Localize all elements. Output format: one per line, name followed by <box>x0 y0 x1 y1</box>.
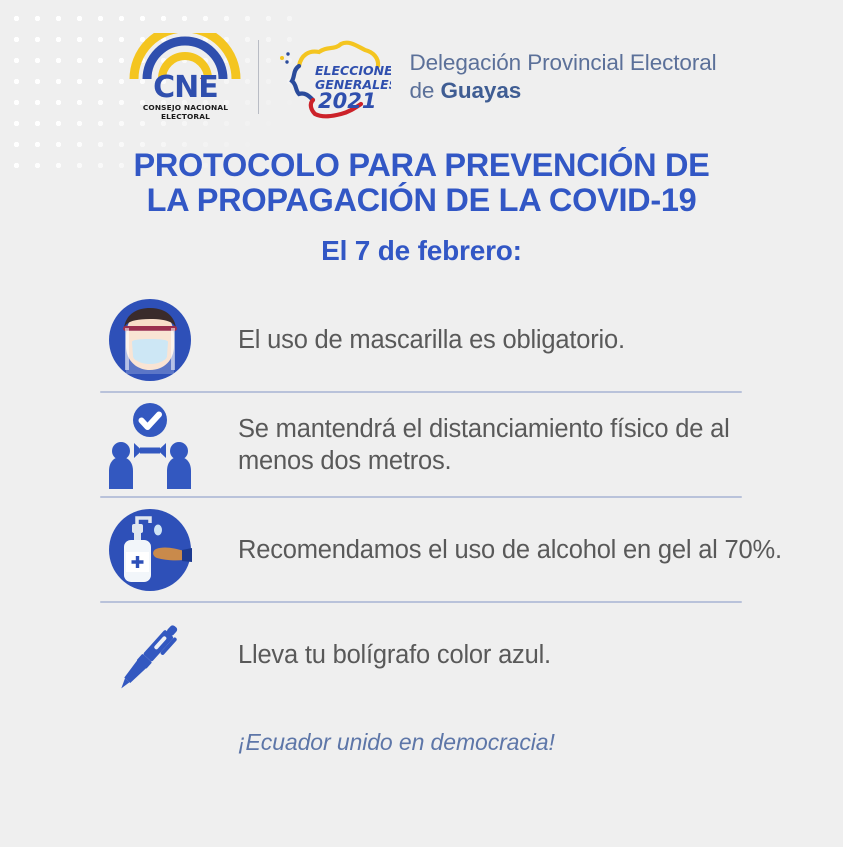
org-line-1: Delegación Provincial Electoral <box>409 49 716 77</box>
organization-name: Delegación Provincial Electoral de Guaya… <box>409 49 716 105</box>
date-subtitle: El 7 de febrero: <box>0 235 843 267</box>
tagline: ¡Ecuador unido en democracia! <box>238 729 843 756</box>
svg-text:ELECCIONES: ELECCIONES <box>315 63 391 78</box>
title-line-1: PROTOCOLO PARA PREVENCIÓN DE <box>0 148 843 183</box>
elecciones-generales-2021-logo: ELECCIONES GENERALES 2021 <box>275 28 391 126</box>
list-item-text: Recomendamos el uso de alcohol en gel al… <box>238 534 842 566</box>
province-name: Guayas <box>440 78 521 103</box>
list-item: Se mantendrá el distanciamiento físico d… <box>0 393 843 496</box>
ecuador-map-outline-icon: ELECCIONES GENERALES 2021 <box>275 28 391 126</box>
title-line-2: LA PROPAGACIÓN DE LA COVID-19 <box>0 183 843 218</box>
header: CNE CONSEJO NACIONAL ELECTORAL ELECCIONE… <box>0 22 843 132</box>
cne-subtitle: CONSEJO NACIONAL ELECTORAL <box>126 103 244 121</box>
list-item: Lleva tu bolígrafo color azul. <box>0 603 843 706</box>
list-item-text: El uso de mascarilla es obligatorio. <box>238 324 685 356</box>
org-line-2-prefix: de <box>409 78 440 103</box>
blue-pen-icon <box>104 609 196 701</box>
hand-sanitizer-icon <box>104 504 196 596</box>
cne-logo: CNE CONSEJO NACIONAL ELECTORAL <box>126 33 244 121</box>
page-title: PROTOCOLO PARA PREVENCIÓN DE LA PROPAGAC… <box>0 148 843 218</box>
org-line-2: de Guayas <box>409 77 716 105</box>
svg-text:2021: 2021 <box>318 89 376 113</box>
social-distancing-icon <box>104 399 196 491</box>
header-vertical-divider <box>258 40 259 114</box>
face-mask-person-icon <box>104 294 196 386</box>
list-item-text: Se mantendrá el distanciamiento físico d… <box>238 413 843 477</box>
protocol-list: El uso de mascarilla es obligatorio. Se … <box>0 288 843 756</box>
title-block: PROTOCOLO PARA PREVENCIÓN DE LA PROPAGAC… <box>0 148 843 267</box>
list-item: Recomendamos el uso de alcohol en gel al… <box>0 498 843 601</box>
list-item-text: Lleva tu bolígrafo color azul. <box>238 639 611 671</box>
list-item: El uso de mascarilla es obligatorio. <box>0 288 843 391</box>
